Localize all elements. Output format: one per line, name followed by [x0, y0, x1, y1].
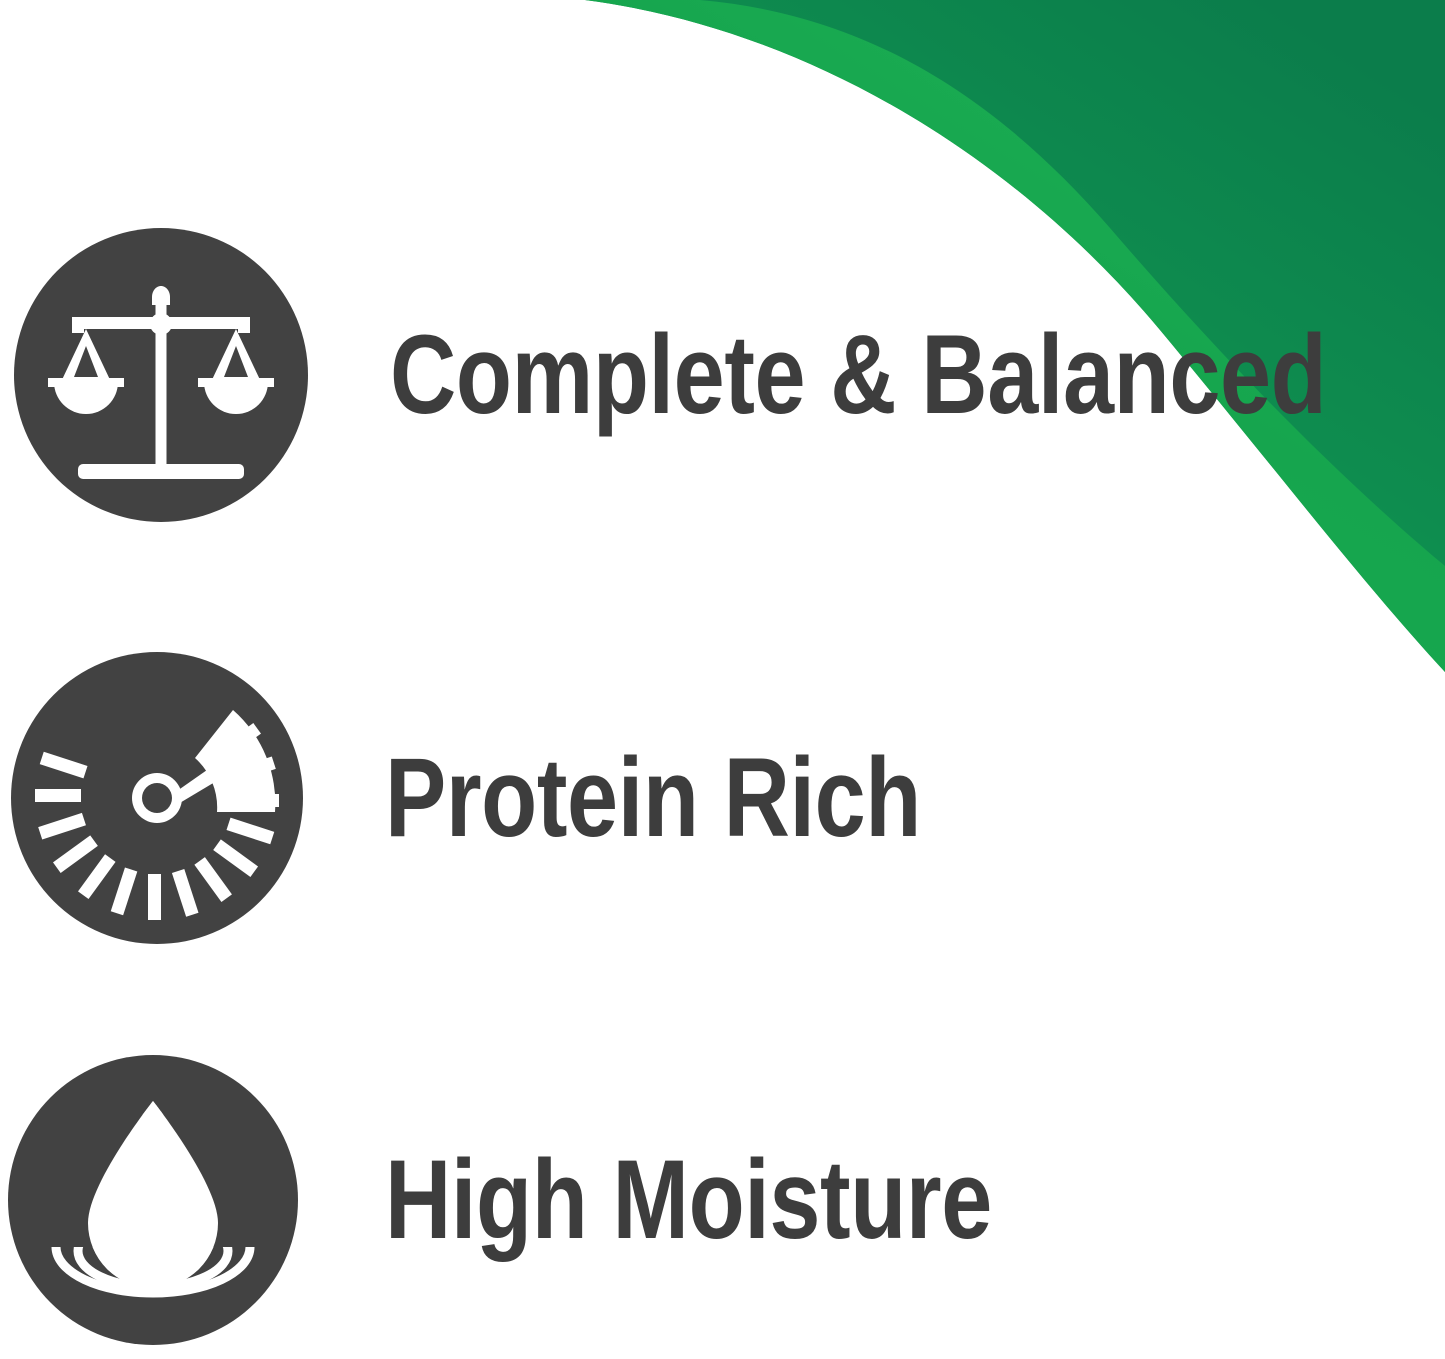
feature-list: Complete & Balanced	[0, 0, 1445, 1359]
feature-row-complete-balanced: Complete & Balanced	[0, 228, 1100, 522]
product-feature-panel: Complete & Balanced	[0, 0, 1445, 1359]
water-drop-icon	[8, 1055, 298, 1345]
feature-label-protein-rich: Protein Rich	[385, 742, 921, 854]
feature-label-complete-balanced: Complete & Balanced	[390, 319, 1326, 431]
gauge-meter-icon	[11, 652, 303, 944]
feature-row-high-moisture: High Moisture	[0, 1055, 1100, 1345]
feature-row-protein-rich: Protein Rich	[0, 652, 1100, 944]
balance-scale-icon	[14, 228, 308, 522]
feature-label-high-moisture: High Moisture	[385, 1144, 992, 1256]
